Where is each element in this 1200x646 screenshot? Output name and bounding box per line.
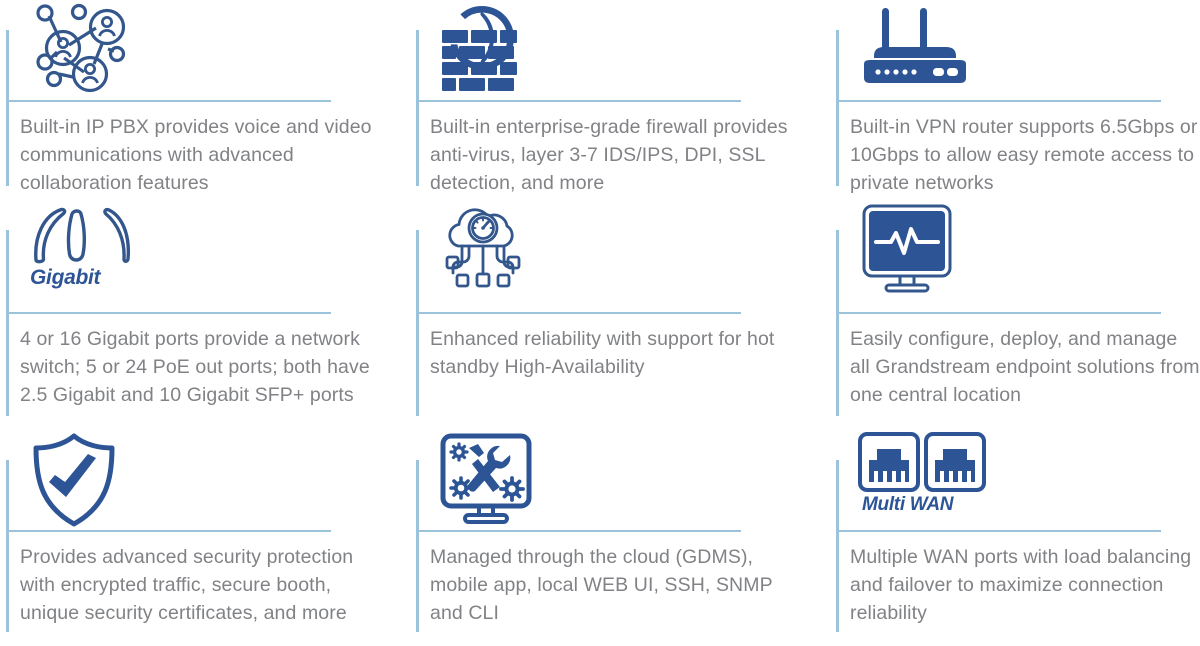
accent-rail — [836, 30, 839, 186]
icon-area — [20, 0, 410, 96]
shield-check-icon — [28, 432, 120, 528]
feature-card-ip-pbx: Built-in IP PBX provides voice and video… — [0, 0, 410, 200]
card-divider — [836, 530, 1161, 532]
card-divider — [836, 100, 1161, 102]
network-users-icon — [28, 2, 132, 94]
feature-text: Enhanced reliability with support for ho… — [430, 326, 790, 382]
gigabit-logo-icon — [28, 202, 132, 264]
feature-card-management-interfaces: Managed through the cloud (GDMS), mobile… — [410, 430, 830, 646]
feature-text: Managed through the cloud (GDMS), mobile… — [430, 544, 790, 628]
feature-text: Built-in enterprise-grade firewall provi… — [430, 114, 790, 198]
card-divider — [6, 530, 331, 532]
accent-rail — [836, 230, 839, 416]
icon-area: Multi WAN — [850, 430, 1200, 526]
monitor-tools-icon — [438, 432, 538, 526]
monitor-pulse-icon — [858, 202, 958, 294]
feature-card-endpoint-management: Easily configure, deploy, and manage all… — [830, 200, 1200, 430]
firewall-globe-icon — [438, 2, 542, 94]
card-divider — [416, 312, 741, 314]
feature-grid: Built-in IP PBX provides voice and video… — [0, 0, 1200, 646]
card-divider — [836, 312, 1161, 314]
icon-area — [430, 430, 830, 526]
icon-area — [430, 0, 830, 96]
accent-rail — [416, 460, 419, 632]
feature-text: Easily configure, deploy, and manage all… — [850, 326, 1200, 410]
accent-rail — [836, 460, 839, 632]
rj45-ports-icon — [858, 432, 986, 494]
card-divider — [6, 100, 331, 102]
multi-wan-wordmark: Multi WAN — [862, 494, 953, 516]
gigabit-wordmark: Gigabit — [30, 266, 100, 290]
icon-area — [20, 430, 410, 526]
feature-card-multi-wan: Multi WAN Multiple WAN ports with load b… — [830, 430, 1200, 646]
feature-card-gigabit-ports: Gigabit 4 or 16 Gigabit ports provide a … — [0, 200, 410, 430]
feature-text: Multiple WAN ports with load balancing a… — [850, 544, 1200, 628]
feature-text: Built-in VPN router supports 6.5Gbps or … — [850, 114, 1200, 198]
icon-area — [850, 0, 1200, 96]
feature-card-security-protection: Provides advanced security protection wi… — [0, 430, 410, 646]
feature-text: Built-in IP PBX provides voice and video… — [20, 114, 380, 198]
card-divider — [416, 530, 741, 532]
feature-card-firewall: Built-in enterprise-grade firewall provi… — [410, 0, 830, 200]
icon-area — [850, 200, 1200, 308]
accent-rail — [416, 230, 419, 416]
accent-rail — [6, 230, 9, 416]
feature-card-high-availability: Enhanced reliability with support for ho… — [410, 200, 830, 430]
feature-text: Provides advanced security protection wi… — [20, 544, 380, 628]
feature-text: 4 or 16 Gigabit ports provide a network … — [20, 326, 380, 410]
icon-area: Gigabit — [20, 200, 410, 308]
icon-area — [430, 200, 830, 308]
wifi-router-icon — [858, 2, 968, 92]
card-divider — [416, 100, 741, 102]
feature-card-vpn-router: Built-in VPN router supports 6.5Gbps or … — [830, 0, 1200, 200]
accent-rail — [6, 30, 9, 186]
card-divider — [6, 312, 331, 314]
accent-rail — [416, 30, 419, 186]
cloud-gauge-network-icon — [438, 202, 534, 294]
accent-rail — [6, 460, 9, 632]
